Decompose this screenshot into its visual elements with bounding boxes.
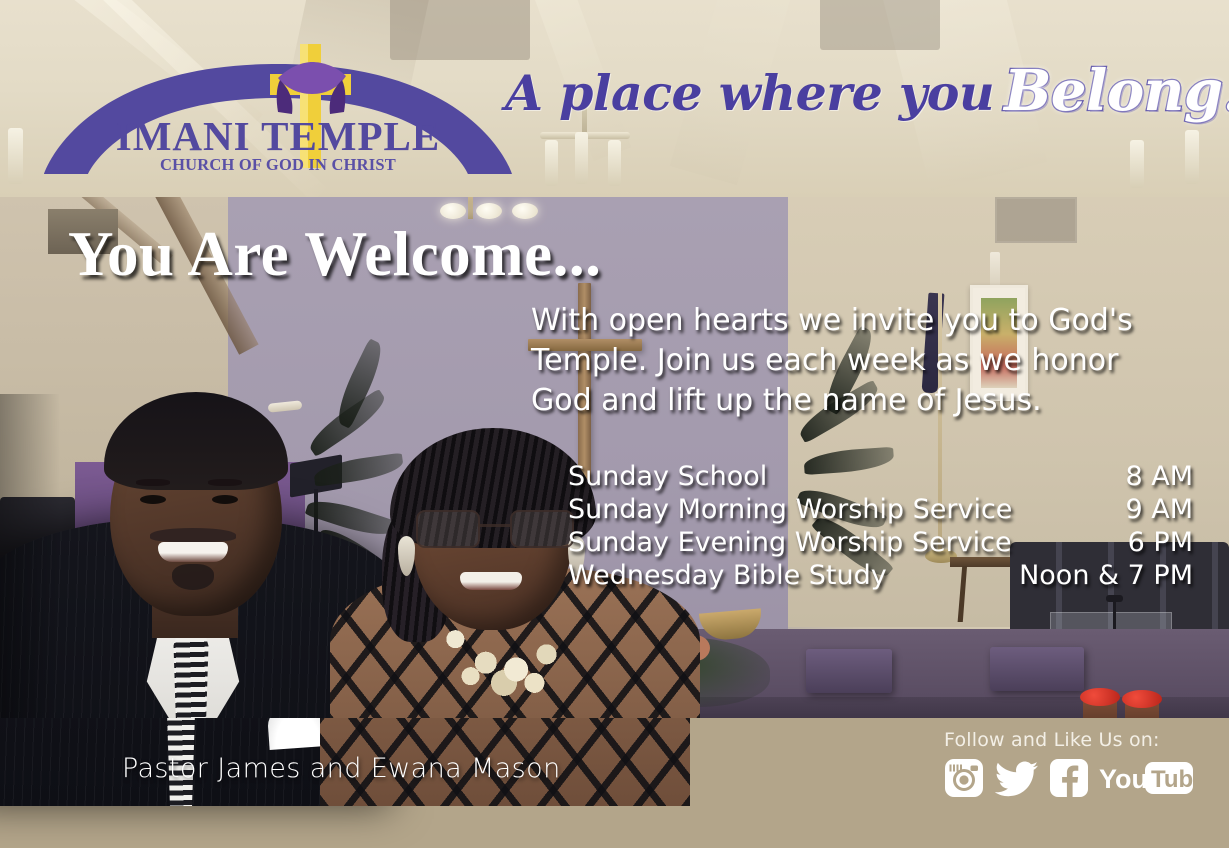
- facebook-icon[interactable]: [1049, 758, 1089, 798]
- invitation-line-2: Temple. Join us each week as we honor: [531, 341, 1171, 381]
- site-tagline: A place where youBelong.: [505, 58, 1217, 148]
- eyeglasses-icon: [416, 510, 572, 548]
- invitation-line-1: With open hearts we invite you to God's: [531, 301, 1171, 341]
- ceiling-light-icon: [476, 203, 502, 219]
- invitation-line-3: God and lift up the name of Jesus.: [531, 381, 1171, 421]
- logo-wordmark: IMANI TEMPLE: [38, 112, 518, 160]
- lamp-icon: [8, 128, 23, 184]
- schedule-service-time: 9 AM: [1125, 493, 1193, 526]
- instagram-icon[interactable]: [944, 758, 984, 798]
- social-links: Follow and Like Us on:: [944, 729, 1204, 798]
- schedule-row: Sunday Morning Worship Service 9 AM: [568, 493, 1193, 526]
- youtube-icon[interactable]: You Tube: [1099, 760, 1194, 796]
- church-welcome-banner: IMANI TEMPLE CHURCH OF GOD IN CHRIST PUR…: [0, 0, 1229, 848]
- social-label: Follow and Like Us on:: [944, 729, 1204, 751]
- social-icon-row: You Tube: [944, 758, 1204, 798]
- service-schedule: Sunday School 8 AM Sunday Morning Worshi…: [568, 460, 1193, 592]
- mouth-decor: [460, 572, 522, 590]
- twitter-icon[interactable]: [994, 758, 1039, 798]
- tagline-emphasis: Belong.: [1004, 58, 1229, 124]
- statement-necklace-decor: [428, 614, 580, 698]
- eyebrow-decor: [136, 479, 170, 486]
- schedule-service-name: Sunday School: [568, 460, 787, 493]
- hair-decor: [104, 392, 288, 490]
- schedule-service-name: Wednesday Bible Study: [568, 559, 907, 592]
- schedule-service-time: Noon & 7 PM: [1019, 559, 1193, 592]
- youtube-tube-text: Tube: [1151, 766, 1194, 793]
- church-logo[interactable]: IMANI TEMPLE CHURCH OF GOD IN CHRIST PUR…: [38, 38, 518, 186]
- schedule-service-time: 6 PM: [1128, 526, 1193, 559]
- ceiling-panel-decor: [820, 0, 940, 50]
- schedule-row: Sunday Evening Worship Service 6 PM: [568, 526, 1193, 559]
- wall-vent-decor: [995, 197, 1077, 243]
- microphone-icon: [1106, 595, 1123, 602]
- page-title: You Are Welcome...: [68, 218, 601, 291]
- moustache-decor: [150, 528, 236, 542]
- pastor-caption: Pastor James and Ewana Mason: [122, 753, 561, 784]
- invitation-text: With open hearts we invite you to God's …: [531, 301, 1171, 421]
- logo-subtitle: CHURCH OF GOD IN CHRIST: [38, 155, 518, 175]
- schedule-row: Wednesday Bible Study Noon & 7 PM: [568, 559, 1193, 592]
- tagline-prefix: A place where you: [505, 64, 994, 122]
- schedule-service-name: Sunday Evening Worship Service: [568, 526, 1032, 559]
- ceiling-light-icon: [440, 203, 466, 219]
- schedule-row: Sunday School 8 AM: [568, 460, 1193, 493]
- eyebrow-decor: [208, 479, 242, 486]
- mouth-decor: [158, 542, 228, 562]
- eye-decor: [140, 495, 166, 504]
- site-header: IMANI TEMPLE CHURCH OF GOD IN CHRIST PUR…: [0, 0, 1229, 197]
- ceiling-light-icon: [512, 203, 538, 219]
- eye-decor: [212, 495, 238, 504]
- schedule-service-time: 8 AM: [1125, 460, 1193, 493]
- schedule-service-name: Sunday Morning Worship Service: [568, 493, 1032, 526]
- stage-monitor-decor: [806, 649, 892, 693]
- goatee-decor: [172, 564, 214, 590]
- youtube-you-text: You: [1099, 764, 1148, 794]
- stage-monitor-decor: [990, 647, 1084, 691]
- chandelier-stem-icon: [468, 197, 473, 219]
